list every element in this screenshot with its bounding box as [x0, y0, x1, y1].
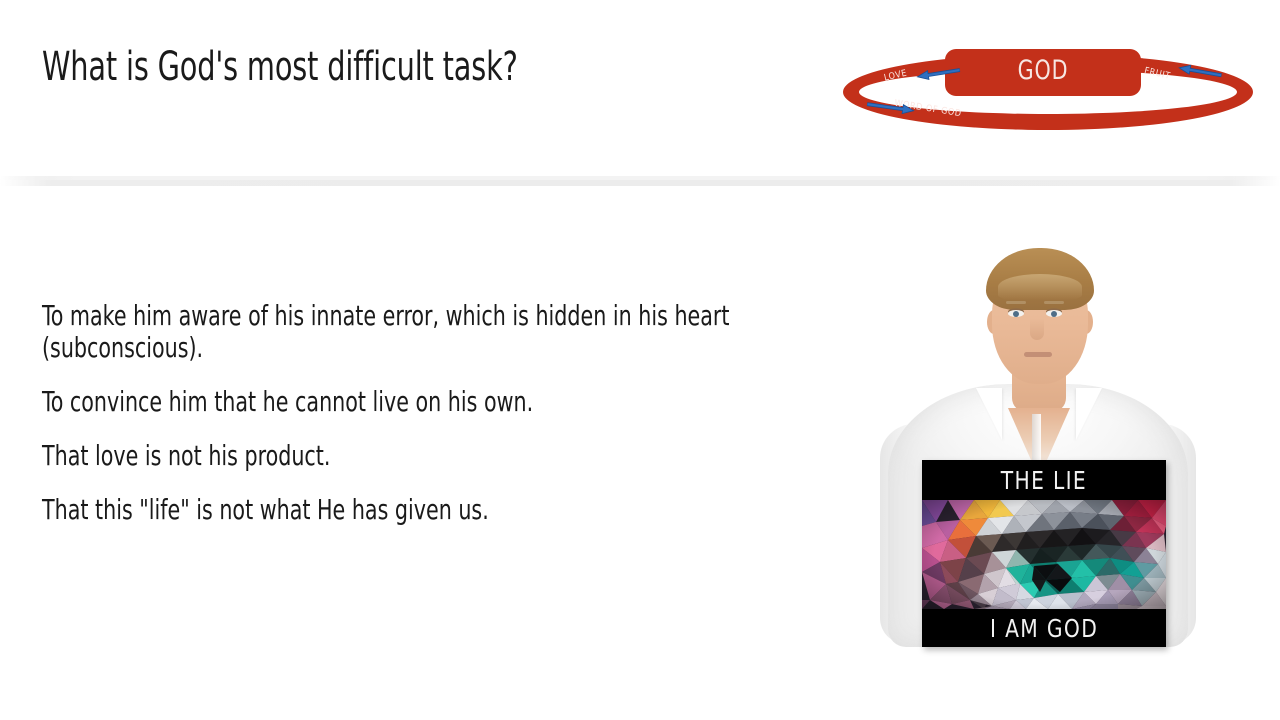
body-line: That love is not his product.	[42, 440, 742, 472]
page-title: What is God's most difficult task?	[42, 44, 650, 90]
hair	[986, 248, 1094, 310]
slide: What is God's most difficult task? GOD L…	[0, 0, 1280, 720]
sign-bottom-banner-label: I AM GOD	[990, 614, 1098, 643]
nose	[1030, 318, 1044, 340]
mouth	[1024, 352, 1052, 357]
man-holding-sign-photo: THE LIE	[880, 232, 1196, 647]
god-cycle-diagram: GOD LOVE FRUIT WORD OF GOD	[838, 38, 1258, 143]
sign-bottom-banner: I AM GOD	[922, 609, 1166, 647]
body-text-block: To make him aware of his innate error, w…	[42, 300, 742, 526]
pupil-left	[1013, 311, 1019, 317]
sign-top-banner: THE LIE	[922, 460, 1166, 500]
body-line: To make him aware of his innate error, w…	[42, 300, 742, 364]
body-line: To convince him that he cannot live on h…	[42, 386, 742, 418]
god-center-label: GOD	[960, 55, 1127, 86]
pupil-right	[1051, 311, 1057, 317]
held-sign: THE LIE	[922, 460, 1166, 647]
eyebrow-right	[1044, 301, 1064, 304]
title-divider	[0, 176, 1280, 186]
collar-left	[976, 388, 1002, 440]
body-line: That this "life" is not what He has give…	[42, 494, 742, 526]
eyebrow-left	[1006, 301, 1026, 304]
sign-top-banner-label: THE LIE	[1001, 466, 1087, 495]
collar-right	[1076, 388, 1102, 440]
god-center-box: GOD	[945, 49, 1141, 96]
low-poly-eye-icon	[922, 500, 1166, 609]
